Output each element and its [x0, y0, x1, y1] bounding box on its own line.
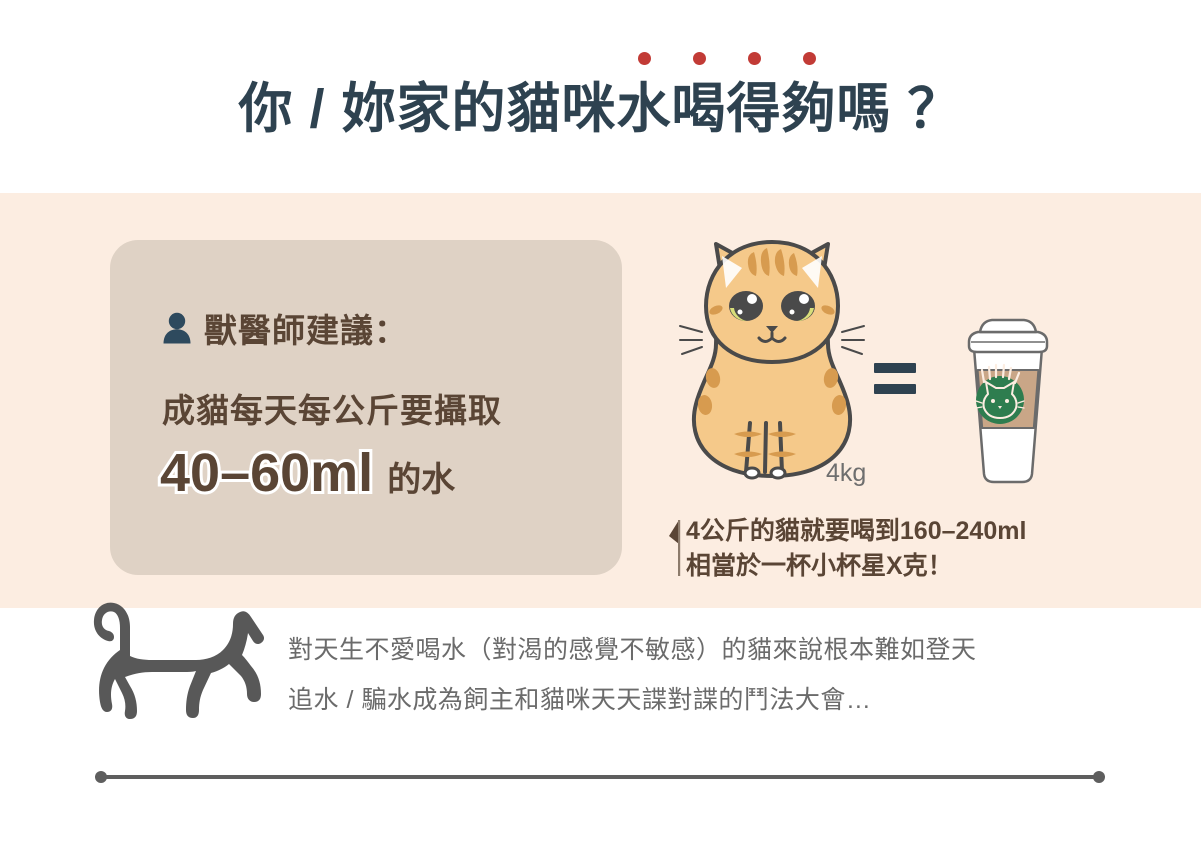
annotation-text: 4公斤的貓就要喝到160–240ml 相當於一杯小杯星X克！: [686, 514, 1026, 583]
title-emphasis-group: 水喝得夠: [617, 82, 837, 136]
emphasis-dot: [638, 52, 651, 65]
equals-sign-icon: [874, 363, 916, 395]
vet-advice-card: 獸醫師建議： 成貓每天每公斤要攝取 40–60ml 的水: [110, 240, 622, 575]
orange-cat-icon: [672, 228, 872, 490]
cat-weight-label: 4kg: [826, 461, 866, 486]
advice-body-line-two: 40–60ml 的水: [160, 446, 455, 500]
divider-dot-right: [1093, 771, 1105, 783]
emphasis-dot: [693, 52, 706, 65]
footer-paragraph-line-two: 追水 / 騙水成為飼主和貓咪天天諜對諜的鬥法大會…: [288, 675, 1118, 725]
title-text: 你 / 妳家的貓咪 水喝得夠 嗎 ？: [238, 82, 962, 136]
emphasis-dots: [617, 52, 837, 65]
walking-cat-icon: [78, 598, 270, 726]
advice-body-line-one: 成貓每天每公斤要攝取: [162, 394, 502, 427]
advice-heading-row: 獸醫師建議：: [162, 312, 408, 349]
title-emphasis-text: 水喝得夠: [617, 79, 837, 139]
annotation-block: 4公斤的貓就要喝到160–240ml 相當於一杯小杯星X克！: [668, 514, 1026, 583]
annotation-line-one: 4公斤的貓就要喝到160–240ml: [686, 514, 1026, 549]
equals-bar: [874, 363, 916, 373]
bottom-divider: [95, 771, 1105, 783]
advice-heading-text: 獸醫師建議：: [204, 314, 408, 347]
flag-marker-icon: [668, 518, 682, 583]
emphasis-dot: [748, 52, 761, 65]
coffee-cup-icon: [952, 312, 1064, 492]
emphasis-dot: [803, 52, 816, 65]
title-part-two: 嗎 ？: [837, 82, 963, 136]
annotation-line-two: 相當於一杯小杯星X克！: [686, 549, 1026, 584]
person-icon: [162, 312, 192, 349]
footer-paragraph-line-one: 對天生不愛喝水（對渴的感覺不敏感）的貓來說根本難如登天: [288, 625, 1118, 675]
water-amount-suffix: 的水: [387, 463, 455, 497]
title-part-one: 你 / 妳家的貓咪: [238, 82, 616, 136]
divider-line: [101, 775, 1099, 779]
page-title: 你 / 妳家的貓咪 水喝得夠 嗎 ？: [0, 82, 1201, 136]
water-amount-value: 40–60ml: [160, 446, 373, 500]
equals-bar: [874, 384, 916, 394]
footer-paragraph: 對天生不愛喝水（對渴的感覺不敏感）的貓來說根本難如登天 追水 / 騙水成為飼主和…: [288, 625, 1118, 725]
